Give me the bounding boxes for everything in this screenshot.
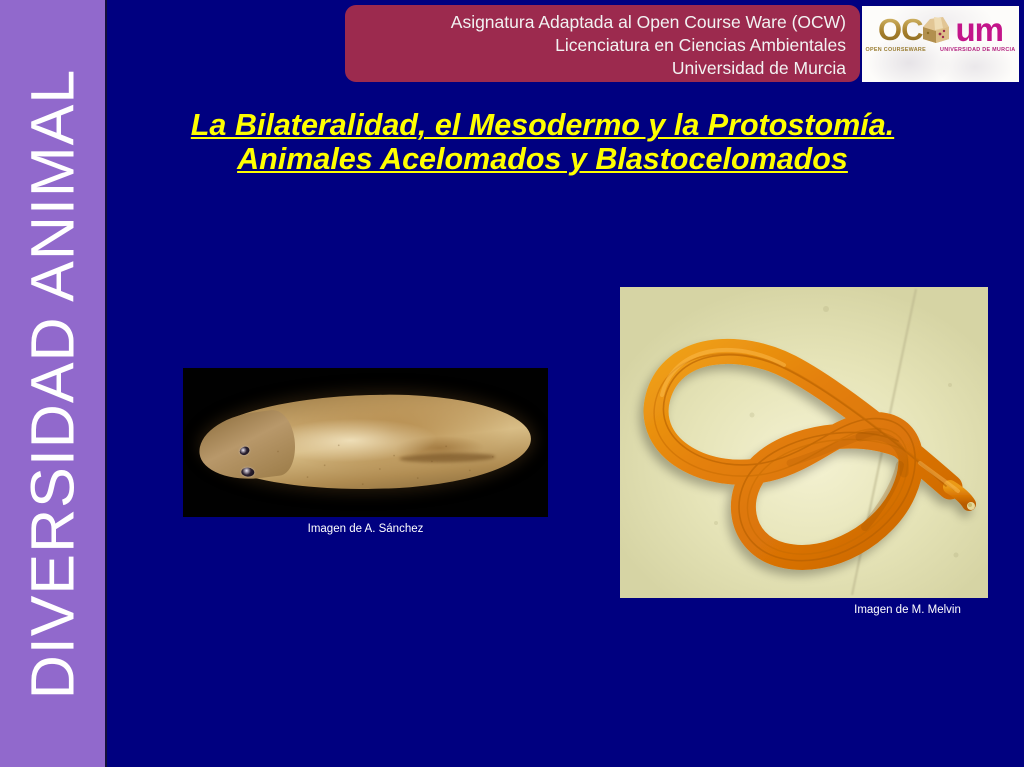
- planarian-figure: [183, 368, 548, 517]
- header-line-3: Universidad de Murcia: [345, 57, 846, 80]
- header-banner: Asignatura Adaptada al Open Course Ware …: [345, 5, 860, 82]
- header-line-1: Asignatura Adaptada al Open Course Ware …: [345, 11, 846, 34]
- slide-canvas: DIVERSIDAD ANIMAL Asignatura Adaptada al…: [0, 0, 1024, 767]
- ocw-wordmark: OC: [878, 15, 923, 45]
- box-icon: [921, 17, 951, 43]
- logo-caption-um: UNIVERSIDAD DE MURCIA: [940, 47, 1015, 53]
- planarian-photograph: [183, 368, 548, 517]
- planarian-figure-caption: Imagen de A. Sánchez: [183, 523, 548, 535]
- sidebar-course-title: DIVERSIDAD ANIMAL: [22, 68, 83, 699]
- um-wordmark: um: [956, 15, 1004, 45]
- planarian-eyespot-left: [238, 445, 250, 456]
- nematode-worm: [620, 287, 988, 598]
- logo-caption-ocw: OPEN COURSEWARE: [866, 47, 927, 53]
- nematode-photograph: [620, 287, 988, 598]
- planarian-body: [202, 392, 532, 493]
- nematode-figure: [620, 287, 988, 598]
- sidebar-course-banner: DIVERSIDAD ANIMAL: [0, 0, 107, 767]
- ocw-um-logo: OC um OPEN CO: [862, 6, 1019, 82]
- page-title-line-1: La Bilateralidad, el Mesodermo y la Prot…: [115, 108, 970, 142]
- header-line-2: Licenciatura en Ciencias Ambientales: [345, 34, 846, 57]
- page-title: La Bilateralidad, el Mesodermo y la Prot…: [115, 108, 970, 176]
- nematode-figure-caption: Imagen de M. Melvin: [800, 604, 1015, 616]
- page-title-line-2: Animales Acelomados y Blastocelomados: [115, 142, 970, 176]
